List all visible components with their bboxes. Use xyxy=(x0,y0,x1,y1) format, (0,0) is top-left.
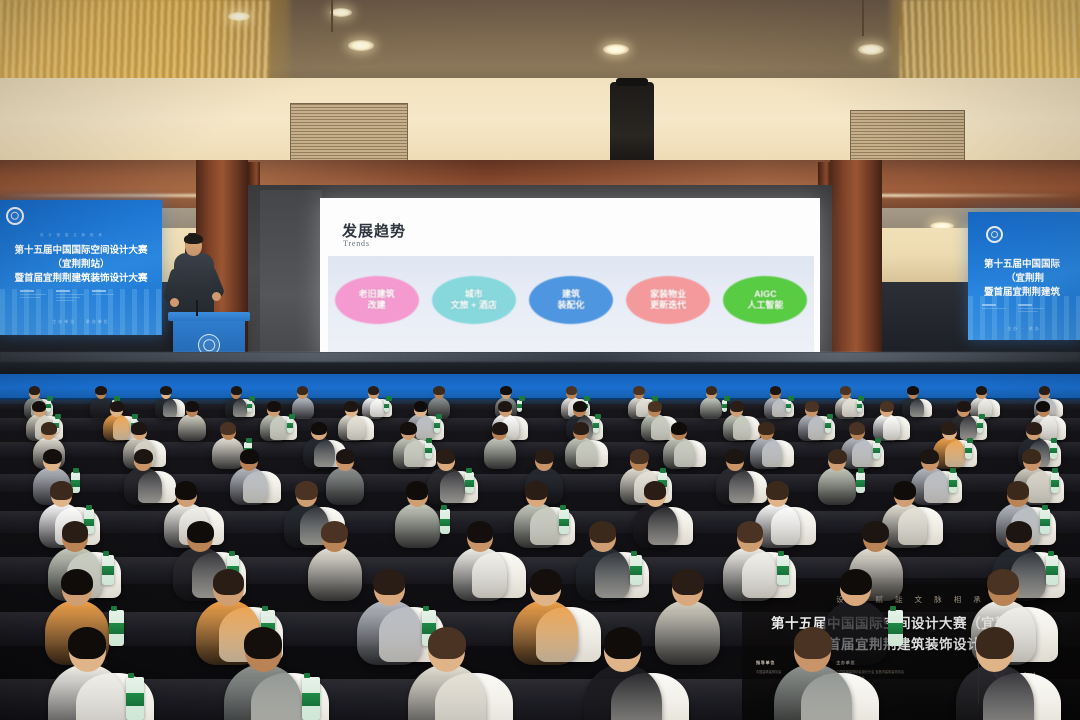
audience-person-hair xyxy=(321,521,348,543)
trend-oval-label-line-1: 建筑 xyxy=(562,289,580,300)
slide-subtitle: Trends xyxy=(343,239,370,248)
audience-person-torso xyxy=(576,547,630,601)
audience-person-hair xyxy=(672,569,704,596)
audience-person-hair xyxy=(231,386,242,395)
trend-oval-label-line-2: 装配化 xyxy=(557,300,584,311)
water-bottle xyxy=(434,418,440,433)
audience-person-torso xyxy=(303,437,335,469)
ceiling-light xyxy=(228,12,250,21)
audience-person-torso xyxy=(395,503,440,548)
pendant-stem xyxy=(862,0,864,36)
audience-person-hair xyxy=(1026,422,1042,435)
pendant-stem xyxy=(331,0,333,32)
audience-person-torso xyxy=(798,414,825,441)
audience-person-torso xyxy=(292,397,314,419)
audience-person-torso xyxy=(453,547,507,601)
audience-person-hair xyxy=(566,386,577,395)
seat-row-band xyxy=(0,418,1080,430)
audience-person-torso xyxy=(103,414,130,441)
audience-person-torso xyxy=(835,397,857,419)
trend-oval-label-line-1: 城市 xyxy=(465,289,483,300)
audience-person-torso xyxy=(633,503,678,548)
water-bottle xyxy=(1050,442,1057,460)
audience-person-hair xyxy=(414,401,428,412)
audience-person-hair xyxy=(573,401,587,412)
audience-person-hair xyxy=(920,449,939,465)
trend-oval-4: 家装物业更新迭代 xyxy=(626,276,710,324)
air-vent xyxy=(850,110,965,166)
trend-oval-1: 老旧建筑改建 xyxy=(335,276,419,324)
audience-person-hair xyxy=(976,386,987,395)
trend-oval-group: 老旧建筑改建城市文旅 + 酒店建筑装配化家装物业更新迭代AIGC人工智能 xyxy=(328,276,814,324)
skyline-graphic xyxy=(968,296,1080,340)
audience-person-torso xyxy=(655,600,720,665)
audience-person-hair xyxy=(134,449,153,465)
audience-person-hair xyxy=(1006,521,1033,543)
water-bottle xyxy=(630,555,642,585)
water-bottle xyxy=(1040,509,1050,534)
audience-person-hair xyxy=(267,401,281,412)
audience-person-hair xyxy=(62,521,89,543)
side-display-left-title-1: 第十五届中国国际空间设计大赛 xyxy=(0,242,162,256)
presenter-hand-left xyxy=(170,298,179,307)
audience-person-torso xyxy=(427,467,465,505)
water-bottle xyxy=(1051,472,1060,493)
audience-person-hair xyxy=(492,422,508,435)
ceiling-light xyxy=(330,8,352,17)
audience-person-hair xyxy=(131,422,147,435)
water-bottle xyxy=(977,418,983,433)
audience-person-hair xyxy=(41,422,57,435)
water-bottle xyxy=(46,400,51,412)
water-bottle xyxy=(593,418,599,433)
audience-person-hair xyxy=(68,627,106,659)
presenter-hand-right xyxy=(212,292,221,301)
conference-hall-photo: 发展趋势 Trends 老旧建筑改建城市文旅 + 酒店建筑装配化家装物业更新迭代… xyxy=(0,0,1080,720)
audience-person-hair xyxy=(630,449,649,465)
water-bottle xyxy=(109,610,124,646)
audience-person-hair xyxy=(436,449,455,465)
water-bottle xyxy=(1046,555,1058,585)
water-bottle xyxy=(425,442,432,460)
side-display-right-footer: 主办 · 承办 xyxy=(968,326,1080,332)
audience-person-hair xyxy=(433,386,444,395)
audience-person-torso xyxy=(565,437,597,469)
water-bottle xyxy=(517,400,522,412)
audience-person-hair xyxy=(467,521,494,543)
audience-person-hair xyxy=(240,449,259,465)
audience-person-torso xyxy=(155,397,177,419)
audience-person-torso xyxy=(260,414,287,441)
audience-person-torso xyxy=(823,600,888,665)
audience-person-hair xyxy=(840,386,851,395)
side-display-right-title-2: （宜荆荆 xyxy=(968,270,1080,284)
audience-person-hair xyxy=(498,401,512,412)
audience-person-hair xyxy=(500,386,511,395)
audience-person-hair xyxy=(530,569,562,596)
audience-person-hair xyxy=(29,386,40,395)
audience-person-hair xyxy=(244,627,282,659)
trend-oval-label-line-2: 文旅 + 酒店 xyxy=(451,300,497,311)
audience-person-torso xyxy=(641,414,668,441)
trend-oval-3: 建筑装配化 xyxy=(529,276,613,324)
trend-oval-2: 城市文旅 + 酒店 xyxy=(432,276,516,324)
audience-person-torso xyxy=(723,547,777,601)
audience-person-torso xyxy=(750,437,782,469)
audience-person-hair xyxy=(758,422,774,435)
side-display-left-title-3: 暨首届宜荆荆建筑装饰设计大赛 xyxy=(0,270,162,284)
audience-person-hair xyxy=(1022,449,1041,465)
water-bottle xyxy=(440,509,450,534)
speaker-cabinet xyxy=(610,82,654,170)
audience-person-torso xyxy=(716,467,754,505)
audience-person-hair xyxy=(573,422,589,435)
audience-person-hair xyxy=(160,386,171,395)
audience-person-torso xyxy=(513,600,578,665)
side-display-left-footer: 主办单位 · 承办单位 xyxy=(0,319,162,325)
ceiling-light xyxy=(858,44,884,55)
audience-person-torso xyxy=(723,414,750,441)
trend-oval-label-line-2: 人工智能 xyxy=(747,300,783,311)
audience-person-hair xyxy=(840,569,872,596)
slide-body: 老旧建筑改建城市文旅 + 酒店建筑装配化家装物业更新迭代AIGC人工智能 xyxy=(328,256,814,352)
audience-person-hair xyxy=(297,386,308,395)
audience-person-hair xyxy=(1039,386,1050,395)
water-bottle xyxy=(949,472,958,493)
association-emblem-icon xyxy=(986,226,1003,243)
audience-person-hair xyxy=(907,386,918,395)
audience-person-torso xyxy=(818,467,856,505)
audience-person-hair xyxy=(400,422,416,435)
water-bottle xyxy=(247,400,252,412)
audience-person-hair xyxy=(213,569,245,596)
audience-person-hair xyxy=(976,627,1014,659)
audience-person-torso xyxy=(326,467,364,505)
audience-person-hair xyxy=(185,401,199,412)
association-emblem-icon xyxy=(6,207,24,225)
audience-person-torso xyxy=(700,397,722,419)
air-vent xyxy=(290,103,408,163)
skyline-graphic xyxy=(0,289,162,335)
audience-person-hair xyxy=(428,627,466,659)
audience-person-torso xyxy=(230,467,268,505)
water-bottle xyxy=(965,442,972,460)
side-display-left-title-2: （宜荆荆站） xyxy=(0,256,162,270)
microphone-stand xyxy=(196,300,198,316)
audience-person-torso xyxy=(225,397,247,419)
trend-oval-label-line-1: AIGC xyxy=(754,289,777,300)
audience-person-hair xyxy=(941,422,957,435)
audience-person-hair xyxy=(849,422,865,435)
audience-person-hair xyxy=(862,521,889,543)
speaker-cabinet-mount xyxy=(616,78,648,86)
audience-person-hair xyxy=(1007,481,1029,499)
audience-person-hair xyxy=(805,401,819,412)
water-bottle xyxy=(287,418,293,433)
audience-person-hair xyxy=(43,449,62,465)
audience-person-hair xyxy=(706,386,717,395)
water-bottle xyxy=(559,509,569,534)
audience-person-hair xyxy=(110,401,124,412)
audience-person-hair xyxy=(589,521,616,543)
audience-person-hair xyxy=(766,481,788,499)
trend-oval-label-line-2: 更新迭代 xyxy=(650,300,686,311)
stage-edge-reflection xyxy=(0,352,1080,362)
audience-person-hair xyxy=(1036,401,1050,412)
audience-person-hair xyxy=(957,401,971,412)
audience-person-hair xyxy=(336,449,355,465)
audience-person-torso xyxy=(178,414,205,441)
water-bottle xyxy=(102,555,114,585)
side-display-right-title-1: 第十五届中国国际 xyxy=(968,256,1080,270)
audience-person-hair xyxy=(368,386,379,395)
audience-person-hair xyxy=(893,481,915,499)
audience-person-torso xyxy=(124,467,162,505)
trend-oval-5: AIGC人工智能 xyxy=(723,276,807,324)
audience-person-torso xyxy=(308,547,362,601)
audience-person-hair xyxy=(794,627,832,659)
trend-oval-label-line-1: 家装物业 xyxy=(650,289,686,300)
water-bottle xyxy=(722,400,727,412)
audience-person-hair xyxy=(50,481,72,499)
audience-person-hair xyxy=(406,481,428,499)
water-bottle xyxy=(825,418,831,433)
audience-person-hair xyxy=(987,569,1019,596)
water-bottle xyxy=(465,472,474,493)
water-bottle xyxy=(888,610,903,646)
audience-person-torso xyxy=(911,467,949,505)
audience-person-hair xyxy=(95,386,106,395)
audience-person-torso xyxy=(882,503,927,548)
water-bottle xyxy=(857,400,862,412)
side-display-left: 设 计 赋 能 文 脉 相 承 第十五届中国国际空间设计大赛 （宜荆荆站） 暨首… xyxy=(0,200,162,335)
audience-person-hair xyxy=(61,569,93,596)
audience-person-hair xyxy=(32,401,46,412)
audience-person-torso xyxy=(362,397,384,419)
water-bottle xyxy=(873,442,880,460)
audience-person-torso xyxy=(484,437,516,469)
audience-person-hair xyxy=(730,401,744,412)
water-bottle xyxy=(384,400,389,412)
audience-person-hair xyxy=(604,627,642,659)
presenter-hair xyxy=(184,234,203,244)
audience-person-torso xyxy=(393,437,425,469)
audience-person-hair xyxy=(725,449,744,465)
audience-person-hair xyxy=(175,481,197,499)
water-bottle xyxy=(786,400,791,412)
slide-title: 发展趋势 xyxy=(342,220,406,241)
audience-person-torso xyxy=(764,397,786,419)
audience-person-hair xyxy=(220,422,236,435)
audience-person-torso xyxy=(663,437,695,469)
side-display-right: 第十五届中国国际 （宜荆荆 暨首届宜荆荆建筑 主办 · 承办 xyxy=(968,212,1080,340)
audience-person-hair xyxy=(535,449,554,465)
audience-person-hair xyxy=(644,481,666,499)
ceiling-light xyxy=(348,40,374,51)
trend-oval-label-line-2: 改建 xyxy=(368,300,386,311)
water-bottle xyxy=(126,677,144,720)
audience-person-torso xyxy=(357,600,422,665)
water-bottle xyxy=(856,472,865,493)
audience-person-torso xyxy=(514,503,559,548)
audience-person-hair xyxy=(295,481,317,499)
audience-person-hair xyxy=(373,569,405,596)
podium-top-surface xyxy=(168,312,250,321)
audience-person-hair xyxy=(671,422,687,435)
audience-person-hair xyxy=(311,422,327,435)
audience-person-hair xyxy=(344,401,358,412)
audience-person-hair xyxy=(770,386,781,395)
projection-screen: 发展趋势 Trends 老旧建筑改建城市文旅 + 酒店建筑装配化家装物业更新迭代… xyxy=(320,198,820,358)
audience-person-hair xyxy=(187,521,214,543)
audience-person-hair xyxy=(880,401,894,412)
audience-person-hair xyxy=(648,401,662,412)
audience-person-torso xyxy=(902,397,924,419)
audience-person-hair xyxy=(737,521,764,543)
audience-person-hair xyxy=(525,481,547,499)
water-bottle xyxy=(777,555,789,585)
side-display-left-tagline: 设 计 赋 能 文 脉 相 承 xyxy=(40,232,104,237)
trend-oval-label-line-1: 老旧建筑 xyxy=(359,289,395,300)
ceiling-light xyxy=(603,44,629,55)
audience-person-hair xyxy=(633,386,644,395)
audience-person-torso xyxy=(338,414,365,441)
water-bottle xyxy=(302,677,320,720)
audience-person-hair xyxy=(828,449,847,465)
